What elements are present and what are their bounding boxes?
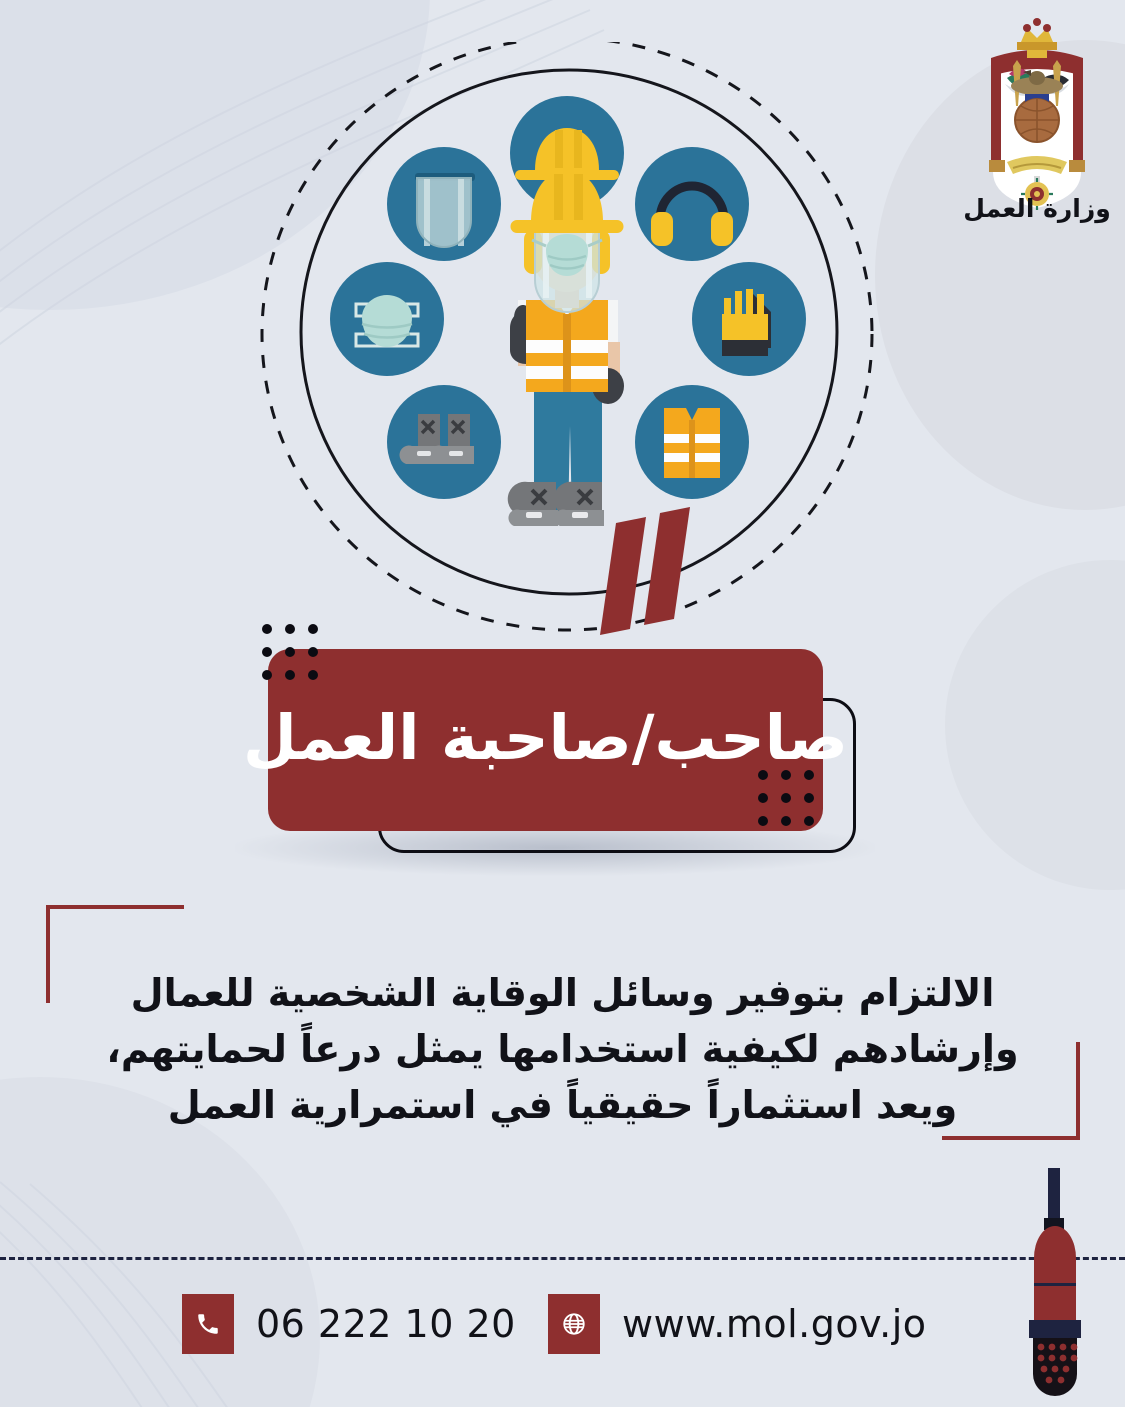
footer: 06 222 10 20 www.mol.gov.jo xyxy=(0,1290,1125,1380)
page-title: صاحب/صاحبة العمل xyxy=(243,707,848,769)
message-text: الالتزام بتوفير وسائل الوقاية الشخصية لل… xyxy=(80,965,1045,1134)
ppe-illustration xyxy=(252,42,882,632)
safety-gloves-icon xyxy=(692,262,806,376)
ministry-branding: وزارة العمل xyxy=(963,18,1111,233)
ear-protection-icon xyxy=(635,147,749,261)
contact-website[interactable]: www.mol.gov.jo xyxy=(548,1294,927,1354)
phone-number: 06 222 10 20 xyxy=(256,1302,516,1346)
website-url: www.mol.gov.jo xyxy=(622,1302,927,1346)
microphone-icon xyxy=(1000,1168,1110,1407)
face-shield-icon xyxy=(387,147,501,261)
dot-grid-top-left xyxy=(262,624,318,680)
ministry-name: وزارة العمل xyxy=(963,194,1111,223)
phone-icon xyxy=(182,1294,234,1354)
globe-icon xyxy=(548,1294,600,1354)
dot-grid-bottom-right xyxy=(758,770,814,826)
respirator-mask-icon xyxy=(330,262,444,376)
quote-mark-bars xyxy=(598,505,718,635)
title-banner: صاحب/صاحبة العمل xyxy=(268,649,823,831)
message-block: الالتزام بتوفير وسائل الوقاية الشخصية لل… xyxy=(40,905,1085,1140)
safety-boots-icon xyxy=(387,385,501,499)
poster-root: صاحب/صاحبة العمل الالتزام بتوفير وسائل ا… xyxy=(0,0,1125,1407)
footer-divider xyxy=(0,1257,1125,1260)
safety-vest-icon xyxy=(635,385,749,499)
construction-worker-figure xyxy=(508,170,624,526)
title-block: صاحب/صاحبة العمل xyxy=(250,620,870,870)
contact-phone[interactable]: 06 222 10 20 xyxy=(182,1294,516,1354)
